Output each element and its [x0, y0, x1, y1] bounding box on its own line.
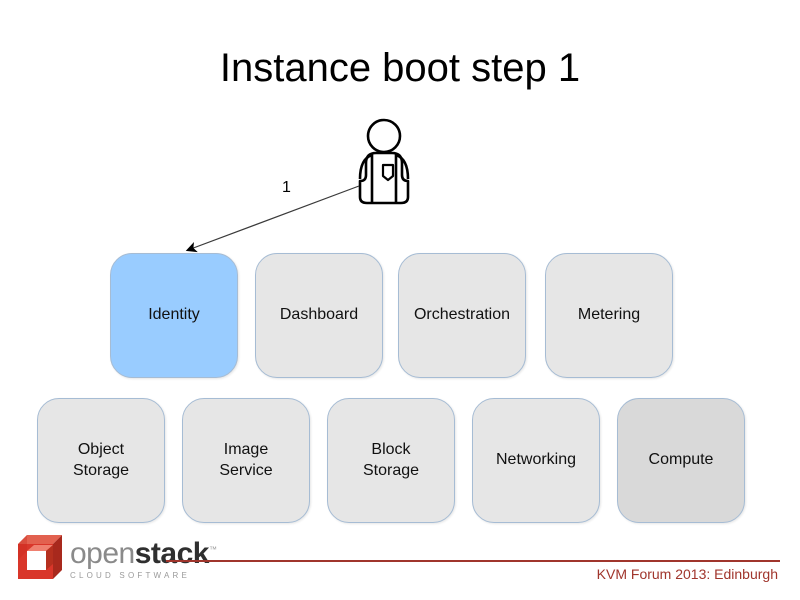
logo-word-open: open [70, 537, 135, 570]
logo-tagline: CLOUD SOFTWARE [70, 571, 217, 580]
service-box-label: Compute [649, 450, 714, 471]
service-box-dashboard[interactable]: Dashboard [255, 253, 383, 378]
service-box-label: Orchestration [414, 305, 510, 326]
service-box-label: Block Storage [363, 440, 419, 482]
service-box-compute[interactable]: Compute [617, 398, 745, 523]
service-box-label: Dashboard [280, 305, 358, 326]
service-box-metering[interactable]: Metering [545, 253, 673, 378]
openstack-wordmark-text: openstack™ [70, 535, 217, 569]
openstack-cube-logo [16, 532, 64, 580]
trademark-symbol: ™ [209, 545, 217, 554]
page-title: Instance boot step 1 [0, 46, 800, 90]
service-box-label: Image Service [219, 440, 272, 482]
service-box-image-service[interactable]: Image Service [182, 398, 310, 523]
service-box-object-storage[interactable]: Object Storage [37, 398, 165, 523]
logo-word-stack: stack [135, 537, 209, 570]
footer-divider [166, 560, 780, 562]
service-box-identity[interactable]: Identity [110, 253, 238, 378]
openstack-logo: openstack™ CLOUD SOFTWARE [16, 531, 217, 585]
service-box-label: Object Storage [73, 440, 129, 482]
service-box-block-storage[interactable]: Block Storage [327, 398, 455, 523]
service-box-networking[interactable]: Networking [472, 398, 600, 523]
service-box-label: Identity [148, 305, 200, 326]
flow-arrow-1-label: 1 [282, 180, 291, 196]
openstack-wordmark: openstack™ CLOUD SOFTWARE [70, 535, 217, 580]
service-box-label: Metering [578, 305, 640, 326]
footer-venue-text: KVM Forum 2013: Edinburgh [597, 566, 778, 582]
person-icon [352, 115, 432, 215]
service-box-orchestration[interactable]: Orchestration [398, 253, 526, 378]
service-box-label: Networking [496, 450, 576, 471]
slide-canvas: Instance boot step 1 1 Identity Dashboar… [0, 0, 800, 600]
